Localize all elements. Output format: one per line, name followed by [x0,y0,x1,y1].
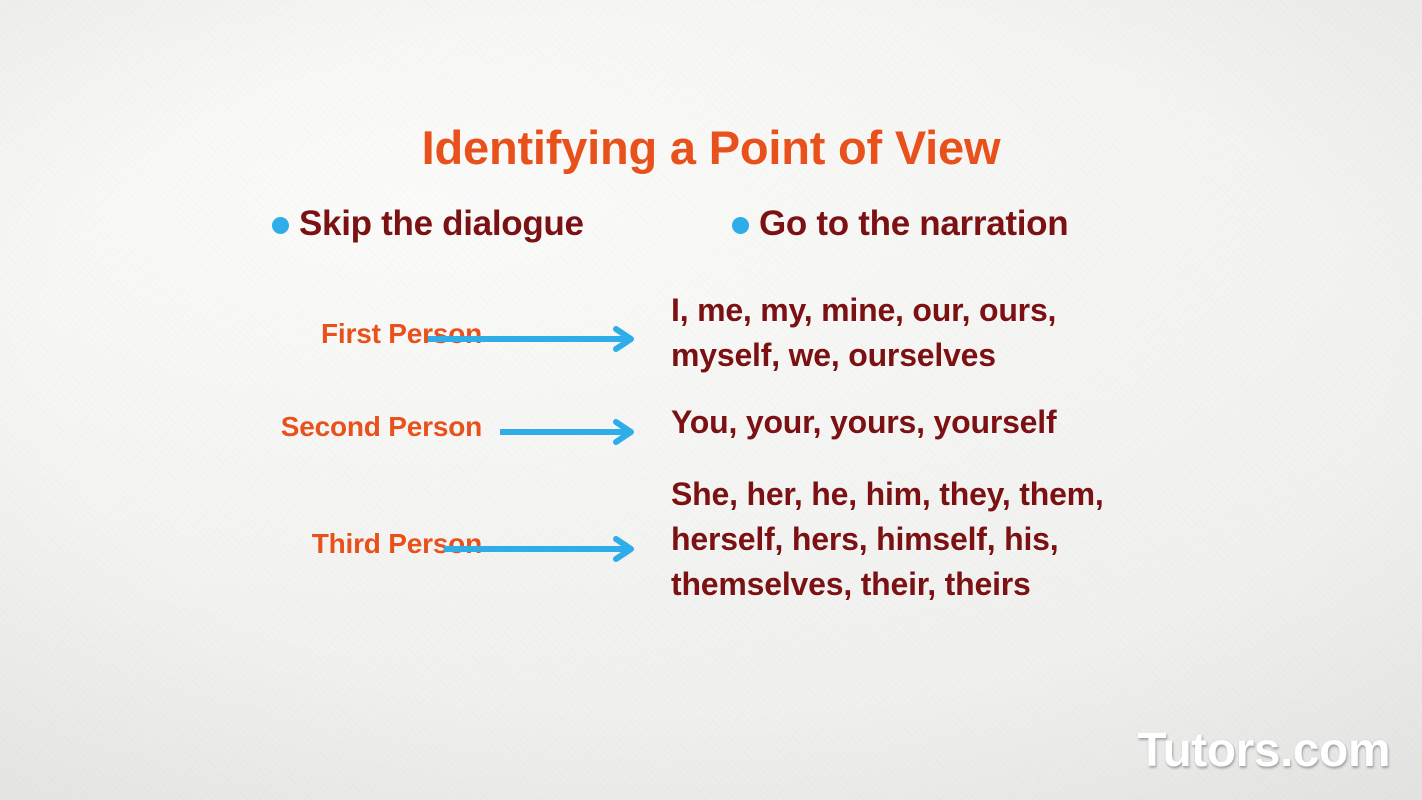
pov-label-second-person: Second Person [0,411,482,443]
pov-pronouns-second-person: You, your, yours, yourself [671,400,1291,445]
bullet-row: Skip the dialogue Go to the narration [272,204,1162,244]
bullet-dot-icon [272,217,289,234]
bullet-item-label: Go to the narration [759,204,1068,244]
page-title: Identifying a Point of View [0,120,1422,175]
arrow-right-icon [500,419,642,445]
pronoun-line: herself, hers, himself, his, [671,517,1291,562]
bullet-item-go-to-the-narration: Go to the narration [732,204,1068,244]
pronoun-line: She, her, he, him, they, them, [671,472,1291,517]
slide-canvas: Identifying a Point of View Skip the dia… [0,0,1422,800]
pov-pronouns-first-person: I, me, my, mine, our, ours, myself, we, … [671,288,1291,378]
pronoun-line: You, your, yours, yourself [671,400,1291,445]
pronoun-line: themselves, their, theirs [671,562,1291,607]
pov-label-first-person: First Person [0,318,482,350]
bullet-item-skip-the-dialogue: Skip the dialogue [272,204,732,244]
arrow-right-icon [444,536,642,562]
pov-label-third-person: Third Person [0,528,482,560]
pronoun-line: I, me, my, mine, our, ours, [671,288,1291,333]
bullet-dot-icon [732,217,749,234]
bullet-item-label: Skip the dialogue [299,204,584,244]
pov-pronouns-third-person: She, her, he, him, they, them, herself, … [671,472,1291,607]
arrow-right-icon [428,326,642,352]
watermark-logo: Tutors.com [1137,723,1390,778]
pronoun-line: myself, we, ourselves [671,333,1291,378]
